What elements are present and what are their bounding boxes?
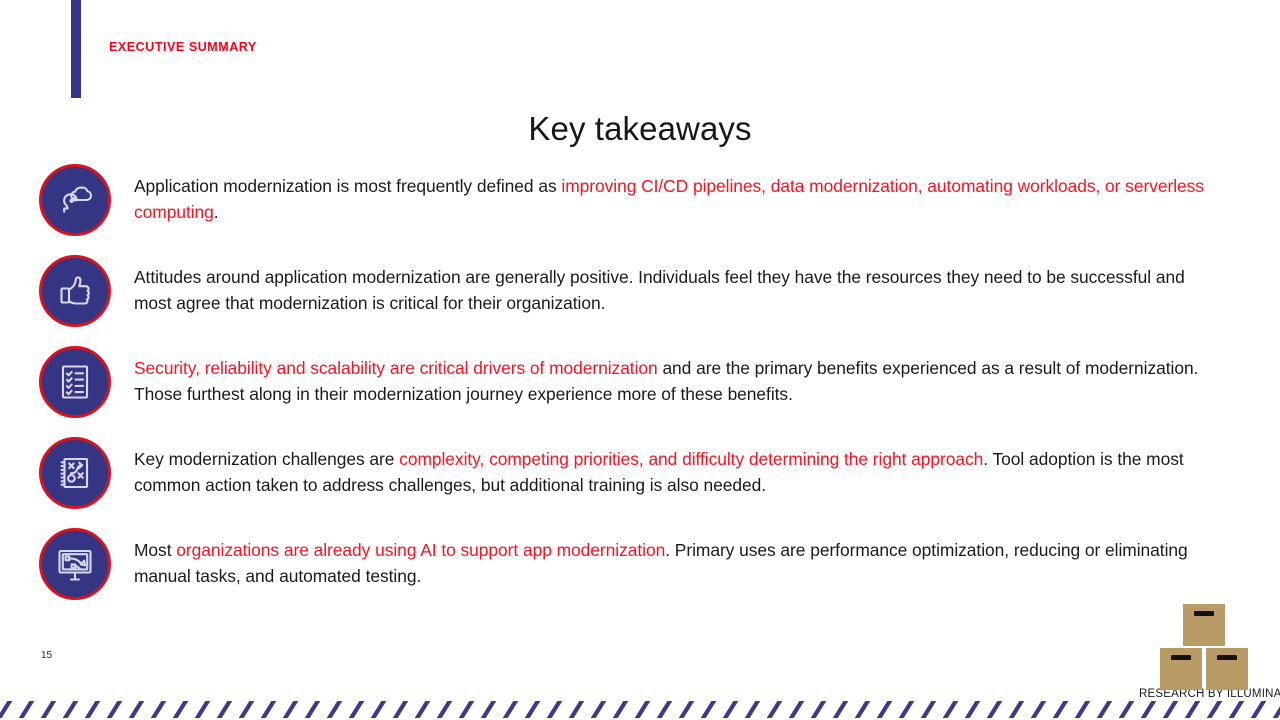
box-left <box>1160 648 1202 690</box>
stripe-mark <box>173 701 189 718</box>
stacked-boxes-icon <box>1158 604 1250 684</box>
takeaway-plain: Key modernization challenges are <box>134 449 399 469</box>
takeaway-text: Most organizations are already using AI … <box>134 538 1224 589</box>
stripe-mark <box>1053 701 1069 718</box>
stripe-mark <box>569 701 585 718</box>
takeaway-text: Key modernization challenges are complex… <box>134 447 1224 498</box>
stripe-mark <box>1273 701 1280 718</box>
eyebrow-label: EXECUTIVE SUMMARY <box>109 40 257 54</box>
takeaway-row: Security, reliability and scalability ar… <box>0 346 1280 437</box>
stripe-mark <box>811 701 827 718</box>
box-top <box>1183 604 1225 646</box>
takeaway-highlight: Security, reliability and scalability ar… <box>134 358 658 378</box>
stripe-mark <box>371 701 387 718</box>
stripe-mark <box>833 701 849 718</box>
box-slot <box>1194 611 1214 616</box>
stripe-mark <box>1185 701 1201 718</box>
stripe-mark <box>591 701 607 718</box>
checklist-clipboard-icon <box>39 346 111 418</box>
stripe-mark <box>877 701 893 718</box>
takeaway-plain: Attitudes around application modernizati… <box>134 267 1185 313</box>
stripe-mark <box>283 701 299 718</box>
stripe-mark <box>1141 701 1157 718</box>
stripe-mark <box>261 701 277 718</box>
stripe-mark <box>85 701 101 718</box>
bottom-stripe-pattern <box>0 696 1280 720</box>
stripe-mark <box>239 701 255 718</box>
stripe-mark <box>503 701 519 718</box>
takeaway-row: Application modernization is most freque… <box>0 164 1280 255</box>
stripe-mark <box>41 701 57 718</box>
takeaway-plain: . <box>214 202 219 222</box>
strategy-playbook-icon <box>39 437 111 509</box>
stripe-mark <box>459 701 475 718</box>
page-title: Key takeaways <box>0 110 1280 148</box>
stripe-mark <box>437 701 453 718</box>
box-slot <box>1217 655 1237 660</box>
box-slot <box>1171 655 1191 660</box>
stripe-mark <box>943 701 959 718</box>
stripe-mark <box>1229 701 1245 718</box>
stripe-mark <box>393 701 409 718</box>
stripe-mark <box>107 701 123 718</box>
stripe-mark <box>1097 701 1113 718</box>
stripe-mark <box>723 701 739 718</box>
takeaway-plain: Application modernization is most freque… <box>134 176 561 196</box>
stripe-mark <box>327 701 343 718</box>
takeaway-row: Key modernization challenges are complex… <box>0 437 1280 528</box>
takeaway-text: Application modernization is most freque… <box>134 174 1224 225</box>
stripe-mark <box>987 701 1003 718</box>
stripe-mark <box>195 701 211 718</box>
stripe-mark <box>0 701 12 718</box>
stripe-mark <box>151 701 167 718</box>
stripe-mark <box>1075 701 1091 718</box>
illuminas-logo: RESEARCH BY ILLUMINAS <box>1139 604 1269 700</box>
stripe-mark <box>1119 701 1135 718</box>
box-right <box>1206 648 1248 690</box>
stripe-mark <box>789 701 805 718</box>
slide-canvas: EXECUTIVE SUMMARY Key takeaways Applicat… <box>0 0 1280 720</box>
takeaway-highlight: complexity, competing priorities, and di… <box>399 449 983 469</box>
stripe-mark <box>613 701 629 718</box>
stripe-mark <box>525 701 541 718</box>
stripe-mark <box>965 701 981 718</box>
stripe-mark <box>745 701 761 718</box>
stripe-mark <box>547 701 563 718</box>
takeaway-highlight: organizations are already using AI to su… <box>176 540 665 560</box>
takeaway-row: Attitudes around application modernizati… <box>0 255 1280 346</box>
takeaway-row: Most organizations are already using AI … <box>0 528 1280 619</box>
thumbs-up-icon <box>39 255 111 327</box>
stripe-mark <box>855 701 871 718</box>
stripe-mark <box>1163 701 1179 718</box>
stripe-mark <box>129 701 145 718</box>
header-accent-bar <box>71 0 81 98</box>
stripe-mark <box>657 701 673 718</box>
stripe-mark <box>217 701 233 718</box>
page-number: 15 <box>41 650 52 661</box>
stripe-mark <box>1031 701 1047 718</box>
stripe-mark <box>1251 701 1267 718</box>
takeaways-list: Application modernization is most freque… <box>0 164 1280 619</box>
stripe-mark <box>921 701 937 718</box>
stripe-mark <box>19 701 35 718</box>
takeaway-plain: Most <box>134 540 176 560</box>
stripe-mark <box>349 701 365 718</box>
stripe-mark <box>899 701 915 718</box>
stripe-mark <box>1009 701 1025 718</box>
stripe-mark <box>415 701 431 718</box>
stripe-mark <box>63 701 79 718</box>
stripe-mark <box>305 701 321 718</box>
stripe-mark <box>701 701 717 718</box>
stripe-mark <box>1207 701 1223 718</box>
stripe-mark <box>481 701 497 718</box>
monitor-curve-icon <box>39 528 111 600</box>
stripe-mark <box>679 701 695 718</box>
takeaway-text: Security, reliability and scalability ar… <box>134 356 1224 407</box>
takeaway-text: Attitudes around application modernizati… <box>134 265 1224 316</box>
stripe-mark <box>635 701 651 718</box>
stripe-mark <box>767 701 783 718</box>
head-thought-bubble-icon <box>39 164 111 236</box>
